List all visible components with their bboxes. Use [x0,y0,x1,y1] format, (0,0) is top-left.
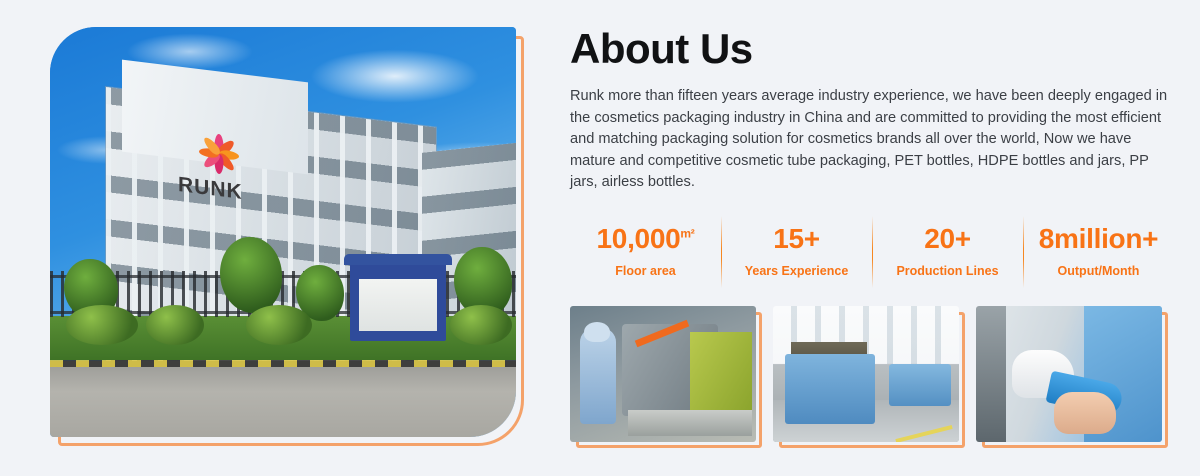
stat-label: Floor area [615,264,675,278]
stat-output-month: 8million+ Output/Month [1023,216,1174,288]
stat-years-experience: 15+ Years Experience [721,216,872,288]
description-text: Runk more than fifteen years average ind… [570,86,1170,194]
stat-value: 15+ [773,225,820,253]
stat-number: 8million+ [1039,223,1158,254]
stat-value: 20+ [924,225,971,253]
curb-marking [50,360,516,367]
hedge-4 [450,305,512,345]
page-title: About Us [570,27,1170,71]
hero-image-wrap: RUNK [50,27,524,446]
thumbnail-3[interactable] [976,306,1166,446]
stat-label: Output/Month [1058,264,1140,278]
hero-image: RUNK [50,27,516,437]
stat-production-lines: 20+ Production Lines [872,216,1023,288]
thumbnail-1[interactable] [570,306,760,446]
stat-number: 10,000 [597,223,681,254]
hedge-3 [246,305,312,345]
road [50,361,516,437]
stats-row: 10,000m² Floor area 15+ Years Experience… [570,216,1174,288]
thumbnail-gallery [570,306,1170,446]
hedge-2 [146,305,204,345]
stat-value: 8million+ [1039,225,1158,253]
stat-label: Production Lines [896,264,998,278]
stat-floor-area: 10,000m² Floor area [570,216,721,288]
tree-2 [220,237,282,313]
thumbnail-image-printing-machine [570,306,756,442]
stat-label: Years Experience [745,264,849,278]
content-column: About Us Runk more than fifteen years av… [570,27,1170,446]
runk-pinwheel-logo-icon [196,128,242,180]
thumbnail-image-blue-tube [976,306,1162,442]
stat-unit: m² [680,227,694,241]
stat-value: 10,000m² [597,225,695,253]
thumbnail-image-factory-floor [773,306,959,442]
hedge-1 [66,305,138,345]
about-us-section: RUNK About Us Runk more than fifteen y [0,0,1200,476]
thumbnail-2[interactable] [773,306,963,446]
stat-number: 20+ [924,223,971,254]
notice-board [350,263,446,341]
stat-number: 15+ [773,223,820,254]
